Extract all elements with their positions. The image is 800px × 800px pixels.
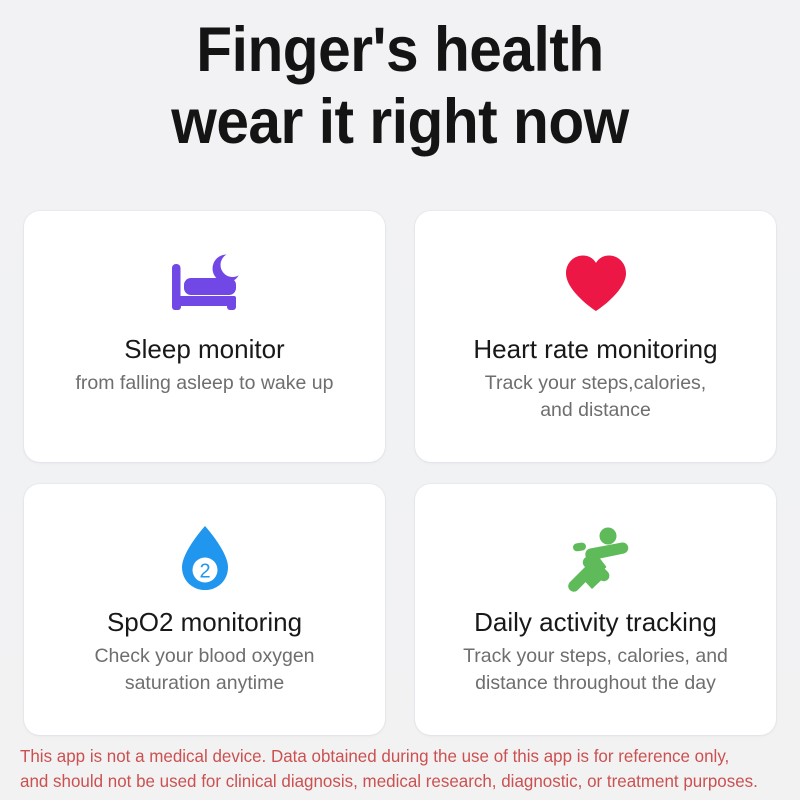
feature-card-spo2[interactable]: 2 SpO2 monitoring Check your blood oxyge… xyxy=(24,484,385,735)
feature-card-subtitle-line-1: from falling asleep to wake up xyxy=(76,372,334,394)
feature-card-subtitle-line-1: Track your steps, calories, and xyxy=(463,645,728,667)
disclaimer-line-1: This app is not a medical device. Data o… xyxy=(20,744,759,769)
feature-card-subtitle-line-2: and distance xyxy=(485,397,706,424)
feature-card-daily-activity[interactable]: Daily activity tracking Track your steps… xyxy=(415,484,776,735)
feature-card-heart-rate[interactable]: Heart rate monitoring Track your steps,c… xyxy=(415,211,776,462)
feature-card-subtitle-line-2: distance throughout the day xyxy=(463,670,728,697)
disclaimer-text: This app is not a medical device. Data o… xyxy=(20,744,759,794)
disclaimer-line-2: and should not be used for clinical diag… xyxy=(20,769,759,794)
water-drop-badge-label: 2 xyxy=(199,561,210,583)
feature-card-title: Sleep monitor xyxy=(116,333,292,365)
water-drop-o2-icon: 2 xyxy=(178,514,232,604)
feature-card-subtitle: Track your steps,calories, and distance xyxy=(465,370,726,424)
bed-moon-icon xyxy=(168,237,242,329)
page-title-line-1: Finger's health xyxy=(28,14,772,86)
feature-card-subtitle-line-1: Track your steps,calories, xyxy=(485,372,706,394)
feature-card-title: Daily activity tracking xyxy=(466,606,725,638)
page-title: Finger's health wear it right now xyxy=(28,14,772,158)
heart-icon xyxy=(563,237,629,329)
feature-card-subtitle-line-1: Check your blood oxygen xyxy=(94,645,314,667)
promo-page: Finger's health wear it right now Sle xyxy=(0,0,800,800)
feature-card-title: SpO2 monitoring xyxy=(99,606,310,638)
running-person-icon xyxy=(560,514,632,604)
page-title-line-2: wear it right now xyxy=(28,86,772,158)
feature-card-sleep-monitor[interactable]: Sleep monitor from falling asleep to wak… xyxy=(24,211,385,462)
feature-card-subtitle: Check your blood oxygen saturation anyti… xyxy=(74,643,334,697)
feature-card-subtitle-line-2: saturation anytime xyxy=(94,670,314,697)
feature-card-subtitle: from falling asleep to wake up xyxy=(56,370,354,397)
feature-card-subtitle: Track your steps, calories, and distance… xyxy=(443,643,748,697)
feature-card-title: Heart rate monitoring xyxy=(465,333,725,365)
feature-card-grid: Sleep monitor from falling asleep to wak… xyxy=(24,211,776,735)
